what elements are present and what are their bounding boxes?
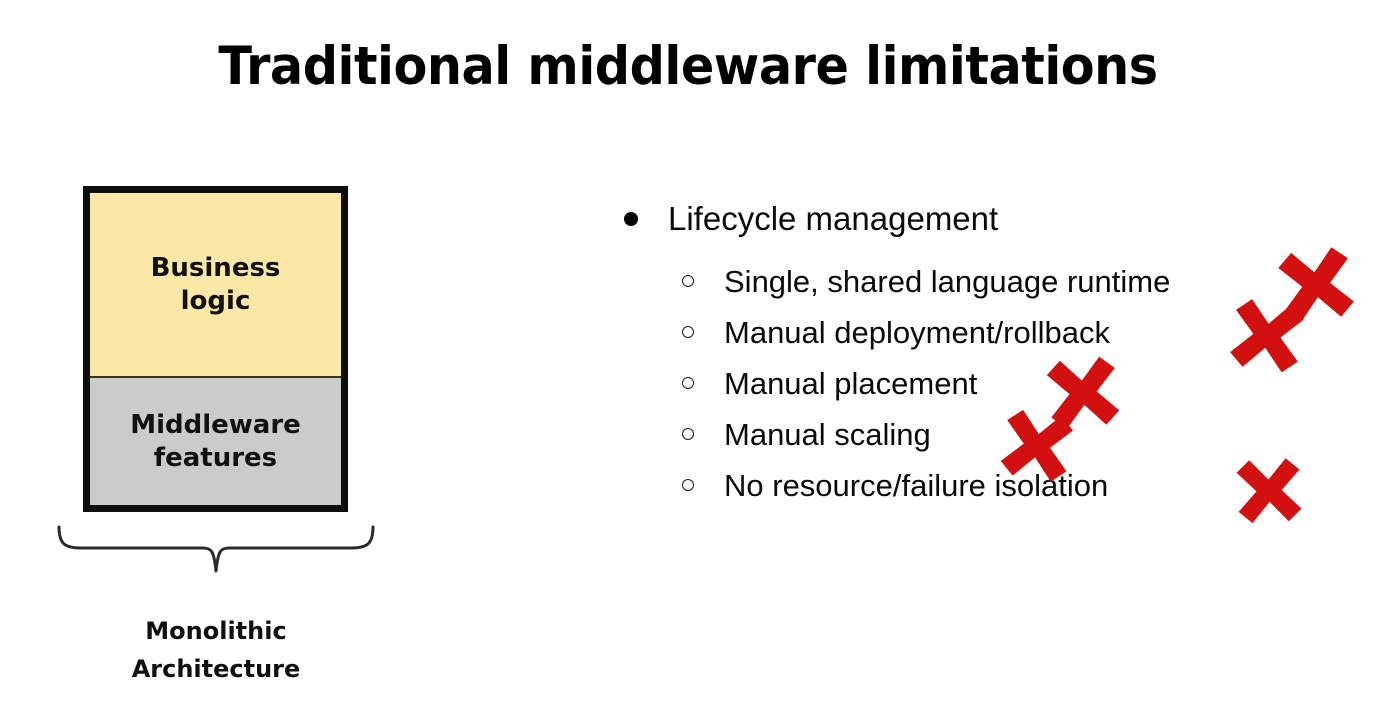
sub-bullet-label: No resource/failure isolation: [724, 468, 1108, 504]
sub-bullet-item-deployment-rollback: Manual deployment/rollback: [612, 307, 1372, 358]
sub-bullet-list: Single, shared language runtime Manual d…: [612, 256, 1372, 511]
monolithic-architecture-box: Business logic Middleware features: [83, 186, 348, 512]
business-logic-label-line1: Business: [151, 253, 281, 283]
middleware-features-label-line1: Middleware: [130, 410, 301, 440]
hollow-circle-bullet-icon: [682, 326, 694, 338]
sub-bullet-item-language-runtime: Single, shared language runtime: [612, 256, 1372, 307]
middleware-features-section: Middleware features: [90, 378, 341, 505]
sub-bullet-label: Single, shared language runtime: [724, 264, 1170, 300]
sub-bullet-label: Manual scaling: [724, 417, 931, 453]
hollow-circle-bullet-icon: [682, 275, 694, 287]
curly-brace-icon: [55, 523, 377, 575]
bullet-label: Lifecycle management: [668, 200, 998, 238]
sub-bullet-item-manual-scaling: Manual scaling: [612, 409, 1372, 460]
bullet-item-lifecycle-management: Lifecycle management: [612, 190, 1372, 248]
middleware-features-label: Middleware features: [130, 409, 301, 475]
monolithic-caption-line1: Monolithic: [145, 617, 286, 645]
filled-disc-bullet-icon: [624, 212, 638, 226]
middleware-features-label-line2: features: [154, 443, 277, 473]
sub-bullet-label: Manual placement: [724, 366, 977, 402]
business-logic-section: Business logic: [90, 193, 341, 378]
sub-bullet-item-manual-placement: Manual placement: [612, 358, 1372, 409]
monolithic-caption-line2: Architecture: [132, 655, 301, 683]
sub-bullet-label: Manual deployment/rollback: [724, 315, 1110, 351]
business-logic-label-line2: logic: [181, 286, 251, 316]
slide-canvas: Traditional middleware limitations Busin…: [0, 0, 1376, 726]
hollow-circle-bullet-icon: [682, 479, 694, 491]
monolithic-architecture-caption: Monolithic Architecture: [55, 612, 377, 688]
business-logic-label: Business logic: [151, 252, 281, 318]
limitations-bullet-list: Lifecycle management Single, shared lang…: [612, 190, 1372, 511]
hollow-circle-bullet-icon: [682, 428, 694, 440]
hollow-circle-bullet-icon: [682, 377, 694, 389]
sub-bullet-item-resource-isolation: No resource/failure isolation: [612, 460, 1372, 511]
page-title: Traditional middleware limitations: [48, 36, 1328, 98]
